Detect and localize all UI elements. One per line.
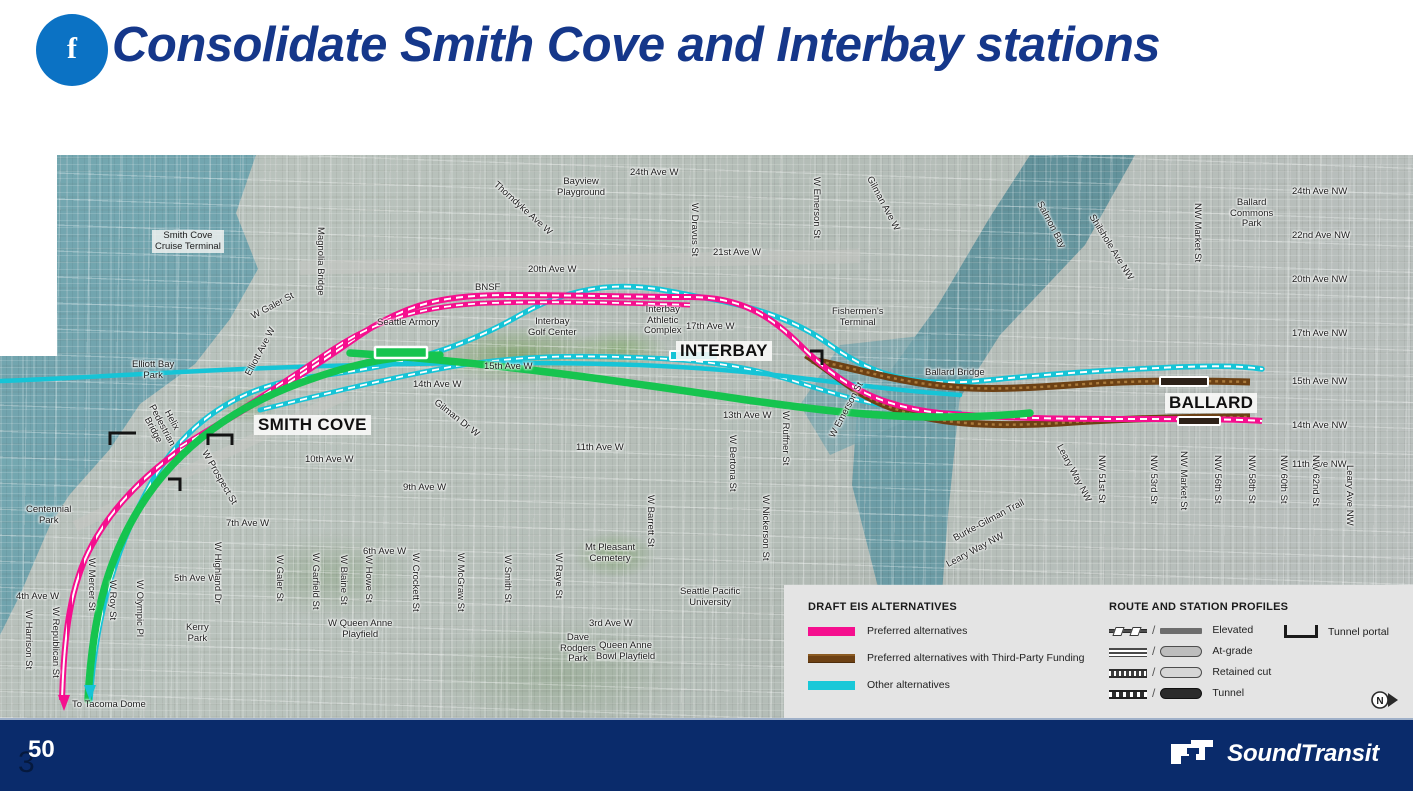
label-interbay-golf-center: Interbay Golf Center xyxy=(528,317,577,338)
legend-swatch-other xyxy=(808,681,855,690)
map-left-cover-box xyxy=(0,155,57,356)
profile-station-tunnel-icon xyxy=(1160,688,1202,699)
label-queen-anne-bowl-playfield: Queen Anne Bowl Playfield xyxy=(596,641,655,662)
label-bayview-playground: Bayview Playground xyxy=(557,177,605,198)
profile-line-retained-cut-icon xyxy=(1109,668,1147,677)
profile-separator-4: / xyxy=(1152,686,1155,700)
label-to-tacoma-dome: To Tacoma Dome xyxy=(72,700,146,711)
profile-separator-3: / xyxy=(1152,665,1155,679)
legend-swatch-preferred xyxy=(808,627,855,636)
label-nw-56th-st: NW 56th St xyxy=(1211,455,1222,504)
label-ballard-commons-park: Ballard Commons Park xyxy=(1230,198,1273,230)
legend-alternatives-column: DRAFT EIS ALTERNATIVES Preferred alterna… xyxy=(808,601,1108,695)
profile-separator-2: / xyxy=(1152,644,1155,658)
legend-label-elevated: Elevated xyxy=(1212,624,1253,636)
label-w-dravus-st: W Dravus St xyxy=(688,203,699,256)
label-kerry-park: Kerry Park xyxy=(186,623,209,644)
map-image[interactable]: Smith Cove Cruise Terminal Magnolia Brid… xyxy=(0,155,1413,718)
label-17th-ave-nw: 17th Ave NW xyxy=(1292,329,1347,340)
label-w-galer-st-2: W Galer St xyxy=(273,555,284,601)
north-arrow-icon: N xyxy=(1369,690,1399,710)
legend-label-preferred-third-party: Preferred alternatives with Third-Party … xyxy=(867,652,1085,664)
label-w-bertona-st: W Bertona St xyxy=(726,435,737,492)
legend-label-at-grade: At-grade xyxy=(1212,645,1252,657)
label-w-mercer-st: W Mercer St xyxy=(85,558,96,611)
label-w-ruffner-st: W Ruffner St xyxy=(779,411,790,465)
label-w-howe-st: W Howe St xyxy=(362,555,373,603)
label-15th-ave-nw: 15th Ave NW xyxy=(1292,377,1347,388)
profile-station-elevated-icon xyxy=(1160,625,1202,636)
label-w-nickerson-st: W Nickerson St xyxy=(759,495,770,560)
station-label-ballard: BALLARD xyxy=(1165,393,1257,413)
label-w-harrison-st: W Harrison St xyxy=(22,610,33,669)
facebook-badge-letter: f xyxy=(36,14,108,86)
label-nw-60th-st: NW 60th St xyxy=(1277,455,1288,504)
label-nw-market-st: NW Market St xyxy=(1191,203,1202,262)
legend-label-retained-cut: Retained cut xyxy=(1212,666,1271,678)
slide-footer: 3 50 SoundTransit xyxy=(0,718,1413,791)
label-22nd-ave-nw: 22nd Ave NW xyxy=(1292,231,1350,242)
label-14th-ave-nw: 14th Ave NW xyxy=(1292,421,1347,432)
profile-separator-1: / xyxy=(1152,623,1155,637)
label-20th-ave-nw: 20th Ave NW xyxy=(1292,275,1347,286)
label-24th-ave-w: 24th Ave W xyxy=(630,168,678,179)
label-w-emerson-st: W Emerson St xyxy=(810,177,821,238)
facebook-badge-icon: f xyxy=(36,14,108,86)
station-label-smith-cove: SMITH COVE xyxy=(254,415,371,435)
label-nw-51st-st: NW 51st St xyxy=(1095,455,1106,503)
tunnel-portal-icon xyxy=(1284,625,1318,638)
label-mt-pleasant-cemetery: Mt Pleasant Cemetery xyxy=(585,543,635,564)
legend-alternatives-title: DRAFT EIS ALTERNATIVES xyxy=(808,601,1108,613)
legend-label-other: Other alternatives xyxy=(867,679,950,691)
label-w-queen-anne-playfield: W Queen Anne Playfield xyxy=(328,619,392,640)
label-leary-ave-nw: Leary Ave NW xyxy=(1343,465,1354,526)
label-3rd-ave-w: 3rd Ave W xyxy=(589,619,633,630)
legend-item-preferred: Preferred alternatives xyxy=(808,621,1108,641)
profile-line-elevated-icon xyxy=(1109,626,1147,635)
label-w-mcgraw-st: W McGraw St xyxy=(454,553,465,612)
legend-item-other: Other alternatives xyxy=(808,675,1108,695)
page-title: Consolidate Smith Cove and Interbay stat… xyxy=(112,17,1372,73)
profile-station-at-grade-icon xyxy=(1160,646,1202,657)
label-4th-ave-w: 4th Ave W xyxy=(16,592,59,603)
label-w-garfield-st: W Garfield St xyxy=(309,553,320,610)
map-legend: DRAFT EIS ALTERNATIVES Preferred alterna… xyxy=(784,585,1413,718)
label-15th-ave-w: 15th Ave W xyxy=(484,362,532,373)
label-seattle-pacific-university: Seattle Pacific University xyxy=(680,587,740,608)
profile-line-at-grade-icon xyxy=(1109,647,1147,656)
label-elliott-bay-park: Elliott Bay Park xyxy=(132,360,174,381)
legend-profiles-column: ROUTE AND STATION PROFILES / Elevated / … xyxy=(1109,601,1409,703)
label-w-blaine-st: W Blaine St xyxy=(337,555,348,605)
label-nw-53rd-st: NW 53rd St xyxy=(1147,455,1158,504)
page-number: 50 xyxy=(28,736,55,764)
legend-swatch-preferred-third-party xyxy=(808,654,855,663)
legend-label-tunnel-portal: Tunnel portal xyxy=(1328,626,1389,638)
legend-profile-retained-cut: / Retained cut xyxy=(1109,662,1409,682)
svg-text:N: N xyxy=(1376,696,1383,707)
label-9th-ave-w: 9th Ave W xyxy=(403,483,446,494)
label-20th-ave-w: 20th Ave W xyxy=(528,265,576,276)
label-11th-ave-w: 11th Ave W xyxy=(576,443,624,454)
legend-profiles-title: ROUTE AND STATION PROFILES xyxy=(1109,601,1409,613)
legend-tunnel-portal: Tunnel portal xyxy=(1284,625,1389,638)
label-w-republican-st: W Republican St xyxy=(49,607,60,678)
legend-item-preferred-third-party: Preferred alternatives with Third-Party … xyxy=(808,648,1108,668)
sound-transit-logo: SoundTransit xyxy=(1169,738,1379,770)
label-seattle-armory: Seattle Armory xyxy=(377,318,439,329)
profile-station-retained-cut-icon xyxy=(1160,667,1202,678)
label-w-barrett-st: W Barrett St xyxy=(644,495,655,547)
legend-label-tunnel: Tunnel xyxy=(1212,687,1244,699)
station-label-interbay: INTERBAY xyxy=(676,341,772,361)
label-w-raye-st: W Raye St xyxy=(552,553,563,598)
label-w-olympic-pl: W Olympic Pl xyxy=(133,580,144,637)
label-17th-ave-w: 17th Ave W xyxy=(686,322,734,333)
slide: f Consolidate Smith Cove and Interbay st… xyxy=(0,0,1413,791)
label-w-roy-st: W Roy St xyxy=(106,580,117,620)
label-w-highland-dr: W Highland Dr xyxy=(211,542,222,604)
label-24th-ave-nw: 24th Ave NW xyxy=(1292,187,1347,198)
label-21st-ave-w: 21st Ave W xyxy=(713,248,761,259)
label-w-crockett-st: W Crockett St xyxy=(409,553,420,612)
label-10th-ave-w: 10th Ave W xyxy=(305,455,353,466)
label-nw-market-st-2: NW Market St xyxy=(1177,451,1188,510)
label-nw-62nd-st: NW 62nd St xyxy=(1309,455,1320,506)
label-ballard-bridge: Ballard Bridge xyxy=(925,368,985,379)
legend-label-preferred: Preferred alternatives xyxy=(867,625,967,637)
label-nw-58th-st: NW 58th St xyxy=(1245,455,1256,504)
label-7th-ave-w: 7th Ave W xyxy=(226,519,269,530)
sound-transit-mark-icon xyxy=(1169,738,1215,770)
legend-profile-tunnel: / Tunnel xyxy=(1109,683,1409,703)
label-interbay-athletic-complex: Interbay Athletic Complex xyxy=(644,305,682,337)
label-smith-cove-cruise-terminal: Smith Cove Cruise Terminal xyxy=(152,230,224,253)
label-13th-ave-w: 13th Ave W xyxy=(723,411,771,422)
profile-line-tunnel-icon xyxy=(1109,689,1147,698)
label-fishermens-terminal: Fishermen's Terminal xyxy=(832,307,883,328)
label-w-smith-st: W Smith St xyxy=(501,555,512,603)
label-centennial-park: Centennial Park xyxy=(26,505,71,526)
label-magnolia-bridge: Magnolia Bridge xyxy=(314,227,325,296)
legend-profile-at-grade: / At-grade xyxy=(1109,641,1409,661)
label-dave-rodgers-park: Dave Rodgers Park xyxy=(560,633,596,665)
slide-header: f Consolidate Smith Cove and Interbay st… xyxy=(0,0,1413,128)
label-bnsf: BNSF xyxy=(475,283,500,294)
sound-transit-wordmark: SoundTransit xyxy=(1227,740,1379,768)
label-14th-ave-w: 14th Ave W xyxy=(413,380,461,391)
